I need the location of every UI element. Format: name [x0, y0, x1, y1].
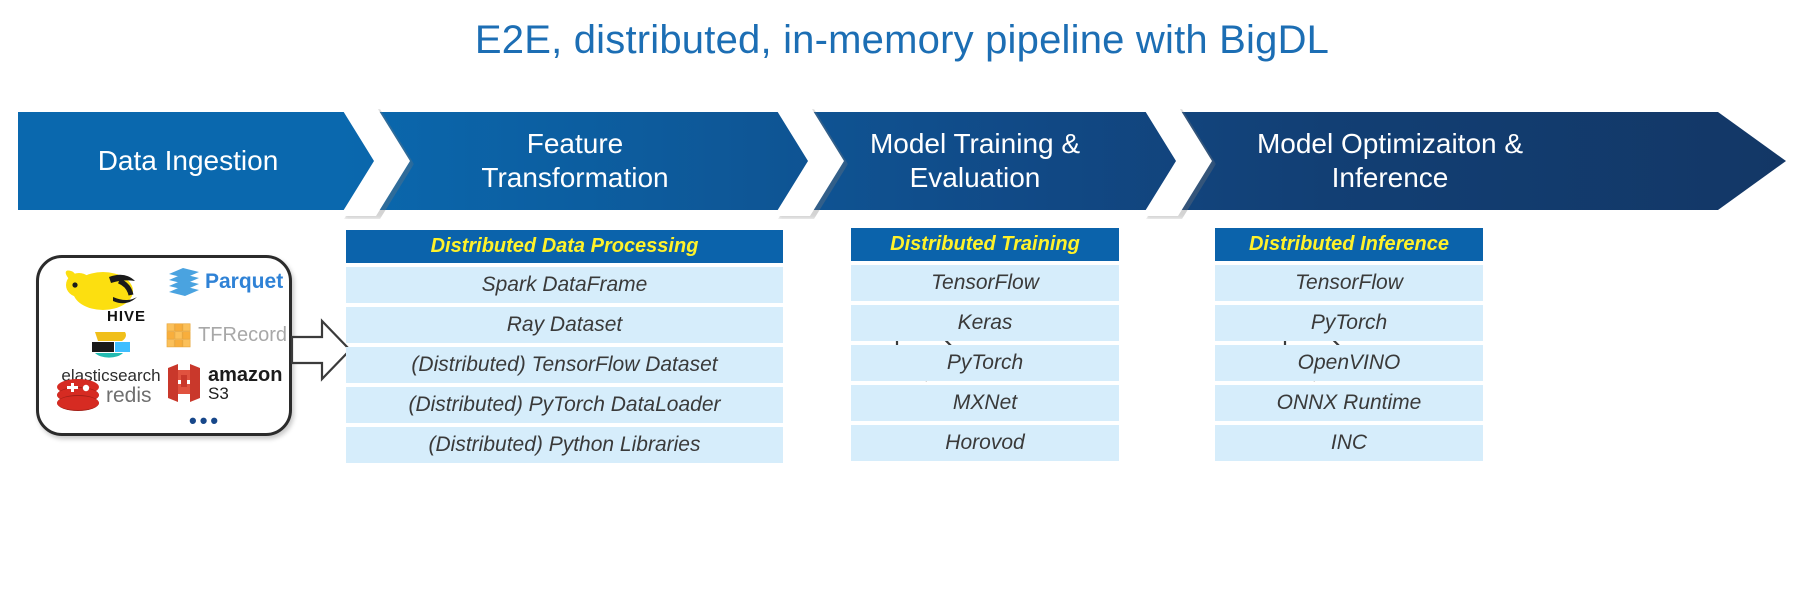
table-row: TensorFlow: [851, 265, 1119, 301]
table-row: Keras: [851, 305, 1119, 341]
parquet-logo: Parquet: [167, 268, 285, 296]
amazon-s3-logo: amazon S3: [165, 362, 285, 404]
redis-logo: redis: [55, 378, 175, 414]
table-row: PyTorch: [1215, 305, 1483, 341]
svg-text:HIVE: HIVE: [107, 308, 146, 325]
arrow-sources-to-processing: [290, 315, 352, 390]
table-distributed-inference: Distributed Inference TensorFlow PyTorch…: [1215, 228, 1483, 461]
page-title: E2E, distributed, in-memory pipeline wit…: [0, 18, 1804, 63]
table-distributed-data-processing: Distributed Data Processing Spark DataFr…: [346, 230, 783, 463]
table-row: OpenVINO: [1215, 345, 1483, 381]
table-row: Horovod: [851, 425, 1119, 461]
table-header: Distributed Data Processing: [346, 230, 783, 263]
table-row: INC: [1215, 425, 1483, 461]
more-sources-ellipsis: •••: [189, 408, 221, 434]
s3-label: S3: [208, 385, 282, 402]
parquet-label: Parquet: [205, 270, 283, 294]
table-header: Distributed Training: [851, 228, 1119, 261]
table-row: ONNX Runtime: [1215, 385, 1483, 421]
table-distributed-training: Distributed Training TensorFlow Keras Py…: [851, 228, 1119, 461]
table-header: Distributed Inference: [1215, 228, 1483, 261]
table-row: PyTorch: [851, 345, 1119, 381]
table-row: MXNet: [851, 385, 1119, 421]
tfrecord-label: TFRecord: [198, 324, 287, 347]
banner-chevron-3: [1142, 106, 1216, 216]
table-row: (Distributed) TensorFlow Dataset: [346, 347, 783, 383]
data-sources-card: HIVE elasticsearch redis: [36, 255, 292, 436]
table-row: Spark DataFrame: [346, 267, 783, 303]
redis-label: redis: [106, 384, 152, 408]
banner-chevron-1: [340, 106, 414, 216]
table-row: (Distributed) Python Libraries: [346, 427, 783, 463]
tfrecord-logo: TFRecord: [165, 314, 287, 356]
table-row: Ray Dataset: [346, 307, 783, 343]
table-row: (Distributed) PyTorch DataLoader: [346, 387, 783, 423]
table-row: TensorFlow: [1215, 265, 1483, 301]
amazon-label: amazon: [208, 365, 282, 385]
banner-background: [18, 112, 1786, 210]
hive-logo: HIVE: [61, 266, 161, 326]
pipeline-banner: [18, 112, 1786, 210]
banner-chevron-2: [774, 106, 848, 216]
